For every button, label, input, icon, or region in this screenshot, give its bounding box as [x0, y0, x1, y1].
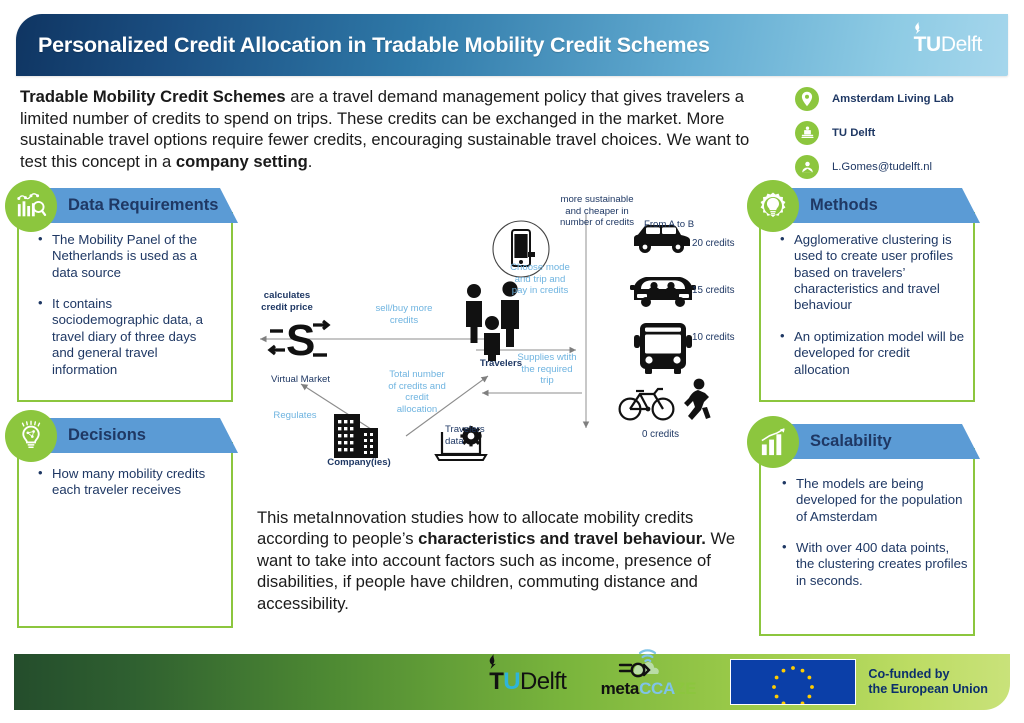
tu-delft-logo-footer: TUDelft — [489, 668, 566, 696]
contact-item-living-lab: Amsterdam Living Lab — [795, 86, 1015, 111]
list-item: The Mobility Panel of the Netherlands is… — [36, 232, 221, 281]
diagram-credits-zero: 0 credits — [642, 429, 679, 440]
intro-lead: Tradable Mobility Credit Schemes — [20, 87, 286, 106]
metaccaze-logo: metaCCAZE — [592, 667, 704, 697]
diagram-axis-from-a-to-b: From A to B — [644, 219, 694, 231]
intro-paragraph: Tradable Mobility Credit Schemes are a t… — [20, 86, 780, 172]
summary-paragraph: This metaInnovation studies how to alloc… — [257, 507, 747, 614]
intro-emphasis: company setting — [176, 152, 308, 171]
bus-icon — [632, 321, 694, 377]
carpool-icon — [630, 272, 696, 312]
diagram-flow-total-number: Total numberof credits andcreditallocati… — [372, 369, 462, 416]
footer-logo-u: U — [503, 668, 520, 696]
panel-list-scalability: The models are being developed for the p… — [780, 476, 970, 604]
poster-footer: TUDelft metaCCAZE — [14, 654, 1010, 710]
list-item: Agglomerative clustering is used to crea… — [778, 232, 968, 314]
gear-lightbulb-icon — [747, 180, 799, 232]
contact-item-email[interactable]: L.Gomes@tudelft.nl — [795, 154, 1015, 179]
data-chart-search-icon — [5, 180, 57, 232]
panel-banner-methods: Methods — [775, 188, 980, 223]
contact-label-tu-delft: TU Delft — [832, 127, 875, 139]
panel-title-decisions: Decisions — [68, 426, 146, 445]
panel-list-decisions: How many mobility credits each traveler … — [36, 466, 221, 514]
diagram-label-virtual-market: Virtual Market — [271, 374, 330, 386]
panel-data-requirements: Data Requirements The Mobility Panel of … — [0, 188, 250, 402]
svg-text:S: S — [286, 316, 315, 365]
list-item: An optimization model will be developed … — [778, 329, 968, 378]
diagram-flow-choose-mode: Choose modeand trip andpay in credits — [494, 262, 586, 297]
pedestrian-icon — [680, 378, 714, 424]
diagram-label-company: Company(ies) — [321, 457, 397, 469]
metaccaze-mark-icon — [594, 649, 680, 685]
poster-header: Personalized Credit Allocation in Tradab… — [16, 14, 1008, 76]
list-item: How many mobility credits each traveler … — [36, 466, 221, 499]
diagram-flow-regulates: Regulates — [260, 410, 330, 422]
poster-canvas: Personalized Credit Allocation in Tradab… — [0, 0, 1024, 723]
diagram-axis-top-note: more sustainableand cheaper innumber of … — [544, 194, 650, 229]
eu-funding-line-2: the European Union — [868, 682, 988, 697]
summary-bold-1: characteristics and travel behaviour. — [418, 529, 706, 548]
panel-title-data-requirements: Data Requirements — [68, 196, 218, 215]
footer-logo-t: T — [489, 668, 503, 696]
tu-delft-logo-header: TUDelft — [914, 33, 982, 57]
eu-funding-block: Co-funded by the European Union — [730, 659, 988, 705]
contact-item-tu-delft: TU Delft — [795, 120, 1015, 145]
bicycle-icon — [618, 384, 676, 422]
panel-banner-decisions: Decisions — [33, 418, 238, 453]
list-item: It contains sociodemographic data, a tra… — [36, 296, 221, 378]
eu-flag-icon — [730, 659, 856, 705]
panel-banner-data-requirements: Data Requirements — [33, 188, 238, 223]
contact-label-email[interactable]: L.Gomes@tudelft.nl — [832, 161, 932, 173]
panel-list-data-requirements: The Mobility Panel of the Netherlands is… — [36, 232, 221, 393]
tu-delft-logo-tu: TU — [914, 33, 941, 57]
contact-label-living-lab: Amsterdam Living Lab — [832, 93, 954, 105]
diagram-credits-carpool: 15 credits — [692, 285, 734, 296]
intro-body-2: . — [308, 152, 313, 171]
panel-list-methods: Agglomerative clustering is used to crea… — [778, 232, 968, 393]
panel-methods: Methods Agglomerative clustering is used… — [742, 188, 1024, 402]
eu-funding-text: Co-funded by the European Union — [868, 667, 988, 698]
panel-banner-scalability: Scalability — [775, 424, 980, 459]
list-item: The models are being developed for the p… — [780, 476, 970, 525]
institution-icon — [795, 121, 819, 145]
panel-scalability: Scalability The models are being develop… — [742, 424, 1024, 636]
location-pin-icon — [795, 87, 819, 111]
company-building-icon — [326, 412, 388, 462]
page-title: Personalized Credit Allocation in Tradab… — [38, 33, 710, 58]
tu-delft-flame-icon — [913, 22, 924, 34]
diagram-credits-car: 20 credits — [692, 238, 734, 249]
virtual-market-icon: S — [266, 311, 332, 367]
panel-title-scalability: Scalability — [810, 432, 892, 451]
list-item: With over 400 data points, the clusterin… — [780, 540, 970, 589]
idea-lightbulb-icon — [5, 410, 57, 462]
tu-delft-logo-delft: Delft — [941, 33, 982, 57]
eu-funding-line-1: Co-funded by — [868, 667, 988, 682]
diagram-label-calculates-credit-price: calculatescredit price — [246, 290, 328, 313]
panel-decisions: Decisions How many mobil — [0, 418, 250, 628]
diagram-credits-bus: 10 credits — [692, 332, 734, 343]
diagram-flow-sell-buy: sell/buy morecredits — [354, 303, 454, 326]
tu-delft-flame-icon-footer — [487, 654, 500, 669]
diagram-flow-supplies: Supplies wtiththe requiredtrip — [504, 352, 590, 387]
email-contact-icon — [795, 155, 819, 179]
footer-logo-delft: Delft — [520, 668, 566, 696]
bar-chart-growth-icon — [747, 416, 799, 468]
contact-list: Amsterdam Living Lab TU Delft — [795, 86, 1015, 188]
footer-logo-row: TUDelft metaCCAZE — [489, 654, 988, 710]
diagram-label-travelers-data: Travelersdata — [445, 424, 495, 447]
system-diagram: S — [246, 186, 746, 486]
metaccaze-e: E — [685, 679, 696, 698]
panel-title-methods: Methods — [810, 196, 878, 215]
